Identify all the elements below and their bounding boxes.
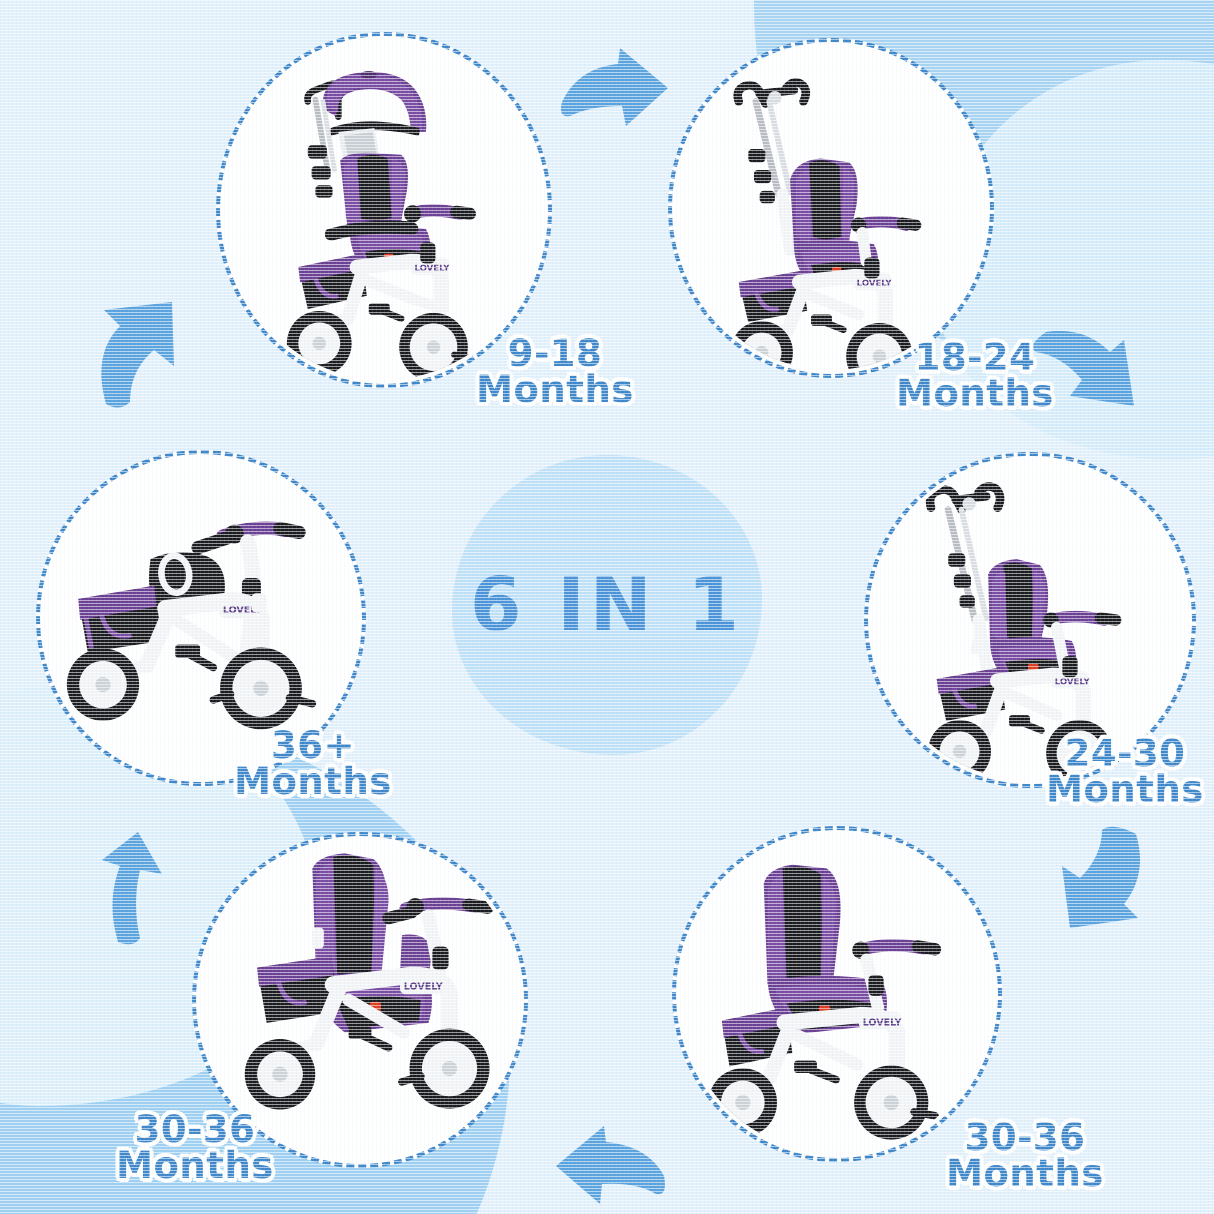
svg-text:LOVELY: LOVELY <box>414 264 450 274</box>
svg-text:LOVELY: LOVELY <box>1055 678 1091 688</box>
stage-label-5: 30-36 Months <box>70 1112 320 1185</box>
stage-label-2: 18-24 Months <box>850 340 1100 413</box>
stage-label-1-unit: Months <box>430 372 680 408</box>
stage-label-6: 36+ Months <box>188 728 438 801</box>
stage-label-4: 30-36 Months <box>900 1120 1150 1193</box>
stage-node-1[interactable]: LOVELY <box>216 32 552 388</box>
stage-label-5-unit: Months <box>70 1148 320 1184</box>
center-badge: 6 IN 1 <box>452 455 762 755</box>
infographic-canvas: 6 IN 1 <box>0 0 1214 1214</box>
flow-arrow-bottom-left-icon <box>78 830 174 948</box>
stage-node-2[interactable]: LOVELY <box>668 38 994 378</box>
svg-text:LOVELY: LOVELY <box>863 1017 902 1028</box>
center-badge-text: 6 IN 1 <box>470 562 744 648</box>
stage-label-2-unit: Months <box>850 376 1100 412</box>
flow-arrow-bottom-icon <box>544 1124 670 1214</box>
product-photo-4: LOVELY <box>680 834 994 1154</box>
svg-text:LOVELY: LOVELY <box>404 982 443 993</box>
product-photo-2: LOVELY <box>676 46 986 370</box>
stage-label-1: 9-18 Months <box>430 336 680 409</box>
flow-arrow-top-left-icon <box>82 292 186 410</box>
svg-text:LOVELY: LOVELY <box>857 279 893 289</box>
flow-arrow-bottom-right-icon <box>1034 822 1162 938</box>
flow-arrow-top-icon <box>556 44 678 138</box>
stage-label-3: 24-30 Months <box>1000 736 1214 809</box>
stage-node-4[interactable]: LOVELY <box>672 826 1002 1162</box>
stage-label-4-unit: Months <box>900 1156 1150 1192</box>
product-photo-1: LOVELY <box>224 40 544 380</box>
stage-label-6-unit: Months <box>188 764 438 800</box>
stage-label-3-unit: Months <box>1000 772 1214 808</box>
